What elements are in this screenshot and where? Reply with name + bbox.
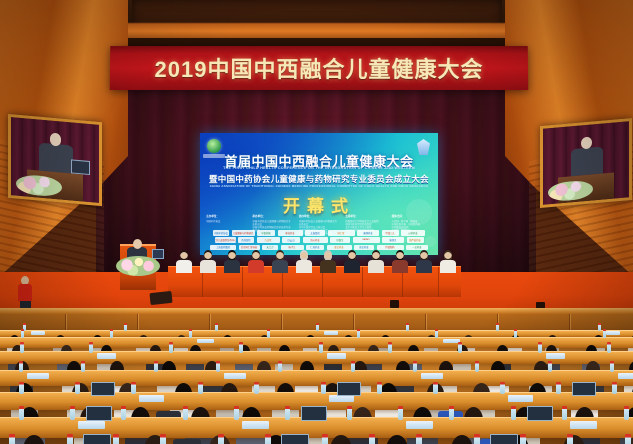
notebook [224, 373, 246, 380]
panelist-body [176, 260, 192, 273]
notebook [618, 373, 633, 380]
water-bottle [239, 342, 243, 352]
audience-member [16, 435, 52, 444]
water-bottle [398, 406, 403, 420]
right-projection-screen [540, 118, 632, 208]
water-bottle [520, 434, 526, 444]
left-projection-screen [8, 114, 102, 206]
sponsor-logo: 儿童健康与药物研究 [232, 230, 255, 236]
notebook [97, 353, 116, 359]
water-bottle [215, 323, 218, 331]
notebook [606, 331, 620, 335]
sponsor-logo: 中国中药协会 [213, 230, 229, 236]
audience-member-head [451, 435, 473, 444]
notebook [78, 421, 105, 429]
sponsor-logo-row: 上海医药集团北京同仁堂科技天士力扬子江仁和药业亚宝药业修正药业羚锐制药一正药业 [204, 245, 434, 251]
sponsor-logo: 同仁堂 [328, 230, 355, 236]
sponsor-logo: 太极集团 [305, 230, 325, 236]
screen-headline: 开幕式 [200, 192, 438, 217]
table-seam [438, 267, 439, 297]
water-bottle [9, 434, 15, 444]
laptop [301, 406, 327, 421]
water-bottle [218, 434, 224, 444]
water-bottle [598, 323, 601, 331]
panelist-body [296, 260, 312, 273]
water-bottle [624, 406, 629, 420]
stage-speaker-box [390, 300, 399, 308]
water-bottle [416, 434, 422, 444]
laptop [337, 382, 361, 396]
panelist-body [272, 260, 288, 273]
panelist-body [248, 260, 264, 273]
credit-heading: 协办单位： [299, 215, 339, 219]
notebook [329, 395, 354, 402]
sponsor-logo: 修正药业 [354, 245, 374, 251]
water-bottle [511, 406, 516, 420]
water-bottle [538, 342, 542, 352]
credit-heading: 支持单位： [345, 215, 385, 219]
screen-sponsor-logos: 中国中药协会儿童健康与药物研究中医药报葵花药业太极集团同仁堂康缘药业华润三九以岭… [204, 230, 434, 252]
sponsor-logo: 仁和药业 [306, 245, 324, 251]
water-bottle [198, 382, 203, 395]
sponsor-logo: santen [353, 237, 380, 243]
sponsor-logo: 北京同仁堂科技 [239, 245, 260, 251]
audience-seating-area [0, 314, 633, 444]
sponsor-logo: 济川药业 [303, 237, 328, 243]
panelist-body [392, 260, 408, 273]
sponsor-logo: 羚锐制药 [377, 245, 404, 251]
panelist [416, 252, 432, 273]
panelist [392, 252, 408, 273]
panelist [176, 252, 192, 273]
water-bottle [322, 434, 328, 444]
water-bottle [316, 323, 319, 331]
water-bottle [369, 434, 375, 444]
panelist [440, 252, 456, 273]
water-bottle [496, 323, 499, 331]
panelist [320, 252, 336, 273]
water-bottle [121, 406, 126, 420]
water-bottle [607, 342, 611, 352]
water-bottle [610, 361, 614, 373]
notebook [570, 421, 597, 429]
audience-member [137, 435, 173, 444]
sponsor-logo: 葫芦娃药业 [407, 237, 424, 243]
water-bottle [265, 434, 271, 444]
notebook [508, 395, 533, 402]
panelist-body [416, 260, 432, 273]
water-bottle [413, 361, 417, 373]
stage-floor-monitor-speaker [149, 291, 172, 305]
water-bottle [285, 406, 290, 420]
sponsor-logo-row: 北京儿童医院协作中心西苑医院九芝堂白云山济川药业好医生santen康恩贝葫芦娃药… [204, 237, 434, 243]
laptop [91, 382, 115, 396]
panelist [344, 252, 360, 273]
left-screen-speaker-body [39, 143, 72, 174]
water-bottle [254, 382, 259, 395]
panelist [368, 252, 384, 273]
laptop [527, 406, 553, 421]
water-bottle [131, 382, 136, 395]
audience-member-head [330, 435, 352, 444]
laptop [281, 434, 309, 444]
water-bottle [321, 382, 326, 395]
notebook [242, 421, 269, 429]
conference-photo-scene: 2019中国中西融合儿童健康大会 首届中国中西融合儿童健康大会 THE FIRS… [0, 0, 633, 444]
water-bottle [19, 406, 24, 420]
screen-subtitle-en: CHINA ASSOCIATION OF TRADITIONAL CHINESE… [200, 184, 438, 188]
notebook [31, 331, 45, 335]
water-bottle [567, 434, 573, 444]
notebook [139, 395, 164, 402]
water-bottle [81, 361, 85, 373]
laptop [572, 382, 596, 396]
table-seam [242, 267, 243, 297]
water-bottle [500, 382, 505, 395]
panelist-body [344, 260, 360, 273]
left-screen-speaker-head [50, 133, 61, 146]
notebook [327, 353, 346, 359]
sponsor-logo: 华润三九 [382, 230, 399, 236]
water-bottle [154, 361, 158, 373]
water-bottle [267, 329, 270, 338]
audience-member [379, 435, 415, 444]
sponsor-logo: 康缘药业 [357, 230, 379, 236]
water-bottle [183, 406, 188, 420]
water-bottle [319, 342, 323, 352]
panelist-body [200, 260, 216, 273]
podium-monitor [152, 249, 164, 259]
podium-speaker-head [133, 239, 142, 249]
notebook [406, 421, 433, 429]
water-bottle [357, 329, 360, 338]
water-bottle [110, 329, 113, 338]
water-bottle [19, 382, 24, 395]
notebook [324, 331, 338, 335]
water-bottle [612, 382, 617, 395]
water-bottle [562, 406, 567, 420]
water-bottle [278, 361, 282, 373]
water-bottle [388, 342, 392, 352]
audience-member [556, 435, 592, 444]
audience-member-head [23, 435, 45, 444]
panelist-body [368, 260, 384, 273]
credit-line: 中国中药协会 [206, 220, 246, 223]
water-bottle [347, 406, 352, 420]
podium-flower-arrangement [116, 256, 160, 276]
water-bottle [475, 361, 479, 373]
water-bottle [75, 382, 80, 395]
water-bottle [377, 382, 382, 395]
notebook [27, 373, 49, 380]
panelist-body [320, 260, 336, 273]
laptop [86, 406, 112, 421]
water-bottle [625, 434, 631, 444]
water-bottle [433, 382, 438, 395]
water-bottle [548, 361, 552, 373]
water-bottle [70, 406, 75, 420]
sponsor-logo: 上海医药集团 [210, 245, 236, 251]
water-bottle [124, 323, 127, 331]
credit-heading: 承办单位： [252, 215, 292, 219]
water-bottle [435, 329, 438, 338]
water-bottle [67, 434, 73, 444]
water-bottle [89, 342, 93, 352]
sponsor-logo: 中医药报 [257, 230, 275, 236]
laptop [490, 434, 518, 444]
sponsor-logo: 九芝堂 [257, 237, 280, 243]
water-bottle [514, 329, 517, 338]
water-bottle [449, 406, 454, 420]
sponsor-logo: 亚宝药业 [327, 245, 352, 251]
sponsor-logo: 一正药业 [406, 245, 428, 251]
water-bottle [351, 361, 355, 373]
water-bottle [458, 342, 462, 352]
audience-member [323, 435, 359, 444]
notebook [546, 353, 565, 359]
sponsor-logo: 白云山 [282, 237, 300, 243]
water-bottle [406, 323, 409, 331]
sponsor-logo: 好医生 [330, 237, 350, 243]
water-bottle [234, 406, 239, 420]
sponsor-logo: 扬子江 [281, 245, 304, 251]
water-bottle [113, 434, 119, 444]
audience-member-head [386, 435, 408, 444]
water-bottle [474, 434, 480, 444]
right-screen-speaker-body [571, 146, 604, 176]
water-bottle [19, 361, 23, 373]
credit-heading: 媒体支持： [392, 215, 432, 219]
screen-title-en: THE FIRST CHILD HEALTH CONFERENCE ON THE… [200, 166, 438, 170]
sponsor-logo-row: 中国中药协会儿童健康与药物研究中医药报葵花药业太极集团同仁堂康缘药业华润三九以岭… [204, 230, 434, 236]
water-bottle [216, 361, 220, 373]
sponsor-logo: 以岭药业 [401, 230, 425, 236]
notebook [421, 373, 443, 380]
credit-heading: 主办单位： [206, 215, 246, 219]
panelist [248, 252, 264, 273]
notebook [197, 339, 214, 344]
sponsor-logo: 葵花药业 [278, 230, 303, 236]
water-bottle [603, 329, 606, 338]
sponsor-logo: 天士力 [262, 245, 278, 251]
sponsor-logo: 西苑医院 [238, 237, 254, 243]
water-bottle [21, 329, 24, 338]
panelist [200, 252, 216, 273]
water-bottle [189, 329, 192, 338]
panelist-body [440, 260, 456, 273]
panelist-body [224, 260, 240, 273]
staff-red-shirt [18, 284, 32, 301]
laptop [83, 434, 111, 444]
top-red-banner: 2019中国中西融合儿童健康大会 [110, 46, 529, 90]
water-bottle [160, 434, 166, 444]
sponsor-logo: 康恩贝 [382, 237, 404, 243]
panelist [296, 252, 312, 273]
panelist [224, 252, 240, 273]
backpack [173, 439, 201, 444]
water-bottle [169, 342, 173, 352]
main-led-screen: 首届中国中西融合儿童健康大会 THE FIRST CHILD HEALTH CO… [200, 133, 438, 255]
panelist [272, 252, 288, 273]
sponsor-logo: 北京儿童医院协作中心 [215, 237, 236, 243]
standing-staff-member [18, 276, 32, 310]
water-bottle [556, 382, 561, 395]
banner-title-text: 2019中国中西融合儿童健康大会 [154, 52, 483, 84]
water-bottle [20, 342, 24, 352]
table-seam [362, 267, 363, 297]
